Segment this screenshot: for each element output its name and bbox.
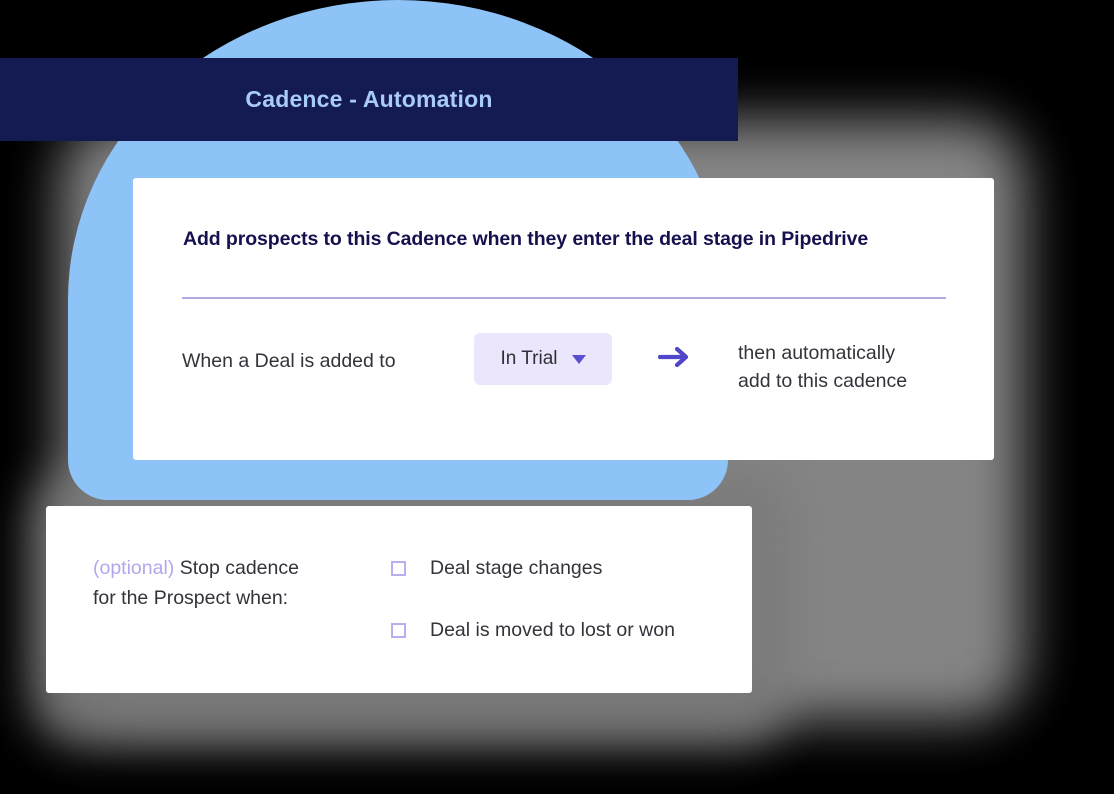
rule-lead-label: When a Deal is added to	[182, 333, 474, 375]
stop-condition-deal-lost-or-won[interactable]: Deal is moved to lost or won	[391, 615, 675, 645]
list-item-label: Deal stage changes	[430, 557, 602, 580]
arrow-right-icon	[612, 333, 738, 369]
stop-cadence-text-1: Stop cadence	[174, 557, 299, 579]
rule-tail-line-2: add to this cadence	[738, 367, 907, 395]
stop-condition-deal-stage-changes[interactable]: Deal stage changes	[391, 553, 675, 583]
deal-stage-dropdown-value: In Trial	[500, 348, 557, 370]
optional-tag: (optional)	[93, 557, 174, 579]
deal-stage-dropdown[interactable]: In Trial	[474, 333, 612, 385]
stop-cadence-label: (optional) Stop cadence for the Prospect…	[93, 553, 363, 613]
stop-conditions-card: (optional) Stop cadence for the Prospect…	[46, 506, 752, 693]
card-heading: Add prospects to this Cadence when they …	[183, 228, 868, 251]
card-divider	[182, 297, 946, 299]
screenshot-stage: Cadence - Automation Add prospects to th…	[0, 0, 1114, 794]
automation-card: Add prospects to this Cadence when they …	[133, 178, 994, 460]
header-bar: Cadence - Automation	[0, 58, 738, 141]
page-title: Cadence - Automation	[245, 86, 492, 113]
stop-cadence-text-2: for the Prospect when:	[93, 583, 363, 613]
checkbox-icon[interactable]	[391, 561, 406, 576]
rule-tail-label: then automatically add to this cadence	[738, 333, 907, 395]
stop-conditions-list: Deal stage changes Deal is moved to lost…	[391, 553, 675, 645]
chevron-down-icon	[572, 355, 586, 364]
list-item-label: Deal is moved to lost or won	[430, 619, 675, 642]
checkbox-icon[interactable]	[391, 623, 406, 638]
automation-rule-row: When a Deal is added to In Trial then au…	[182, 333, 972, 395]
rule-tail-line-1: then automatically	[738, 339, 907, 367]
